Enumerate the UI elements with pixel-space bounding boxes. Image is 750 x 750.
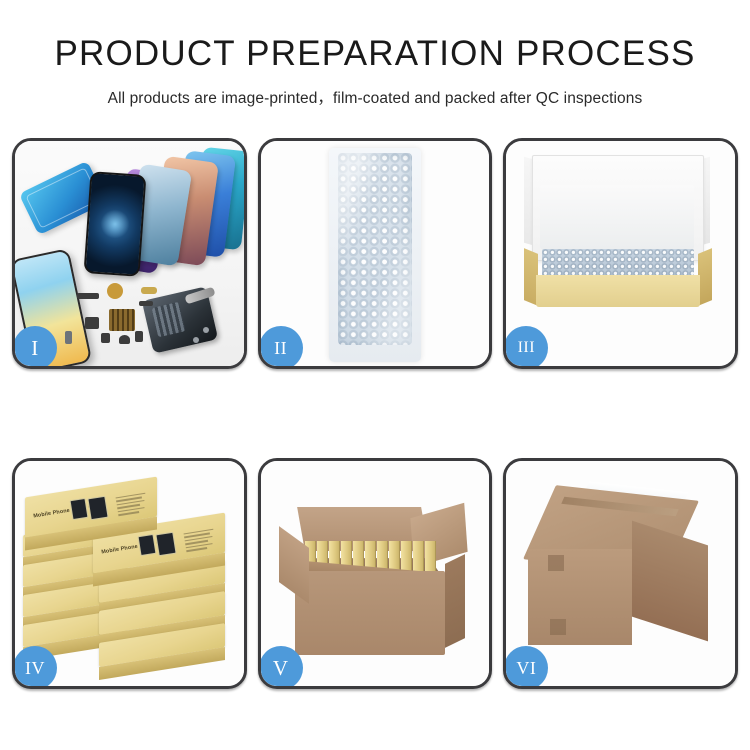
small-part-c-icon xyxy=(101,333,110,343)
screw-icon xyxy=(193,337,199,343)
small-part-a-icon xyxy=(139,301,153,306)
foam-insert xyxy=(540,185,694,249)
screw-2-icon xyxy=(203,327,209,333)
box-screen-image-1a xyxy=(70,498,89,520)
sim-tray-icon xyxy=(65,331,72,344)
carton-body-front xyxy=(295,571,445,655)
small-part-b-icon xyxy=(85,317,99,329)
open-carton xyxy=(279,497,465,661)
step-badge-1: I xyxy=(13,326,57,369)
sealed-carton xyxy=(526,493,712,661)
product-preparation-infographic: PRODUCT PREPARATION PROCESS All products… xyxy=(0,0,750,750)
step-panel-sealed-carton: VI xyxy=(503,458,738,689)
step-badge-6: VI xyxy=(504,646,548,689)
box-front-panel xyxy=(536,275,700,307)
speaker-part-icon xyxy=(107,283,123,299)
retail-box-stack: Mobile Phone Spare Parts Mobile Phone Sp… xyxy=(23,479,229,675)
carton-front-face xyxy=(528,549,632,645)
carton-handle-tab-lower xyxy=(550,619,566,635)
small-part-e-icon xyxy=(135,331,143,342)
step-panel-bubble-wrap: II xyxy=(258,138,493,369)
small-part-d-icon xyxy=(119,335,130,344)
button-flex-icon xyxy=(141,287,157,294)
box-side-right xyxy=(698,248,712,306)
steps-grid: I II III xyxy=(12,138,738,689)
box-screen-image-2b xyxy=(155,532,176,557)
step-badge-3: III xyxy=(504,326,548,369)
retail-box-printed-1: Mobile Phone Spare Parts xyxy=(25,487,157,527)
step-panel-open-carton: V xyxy=(258,458,493,689)
retail-box-right-2 xyxy=(99,601,225,625)
tempered-glass-icon xyxy=(84,171,147,277)
bubble-wrapped-item xyxy=(542,249,694,277)
step-panel-phones-and-parts: I xyxy=(12,138,247,369)
step-badge-5: V xyxy=(259,646,303,689)
screw-tray-icon xyxy=(109,309,135,331)
box-screen-image-1b xyxy=(87,496,108,521)
plastic-sheen-overlay xyxy=(338,153,412,345)
step-badge-2: II xyxy=(259,326,303,369)
page-subtitle: All products are image-printed，film-coat… xyxy=(0,86,750,108)
page-title: PRODUCT PREPARATION PROCESS xyxy=(0,36,750,73)
retail-box-right-3 xyxy=(99,633,225,657)
step-badge-4: IV xyxy=(13,646,57,689)
step-panel-stacked-boxes: Mobile Phone Spare Parts Mobile Phone Sp… xyxy=(12,458,247,689)
carton-handle-tab-upper xyxy=(548,555,564,571)
flex-part-icon xyxy=(77,293,99,299)
header: PRODUCT PREPARATION PROCESS All products… xyxy=(0,0,750,108)
step-panel-open-inner-box: III xyxy=(503,138,738,369)
carton-right-face xyxy=(632,521,708,642)
box-screen-image-2a xyxy=(138,534,157,556)
carton-side-right xyxy=(445,554,465,648)
